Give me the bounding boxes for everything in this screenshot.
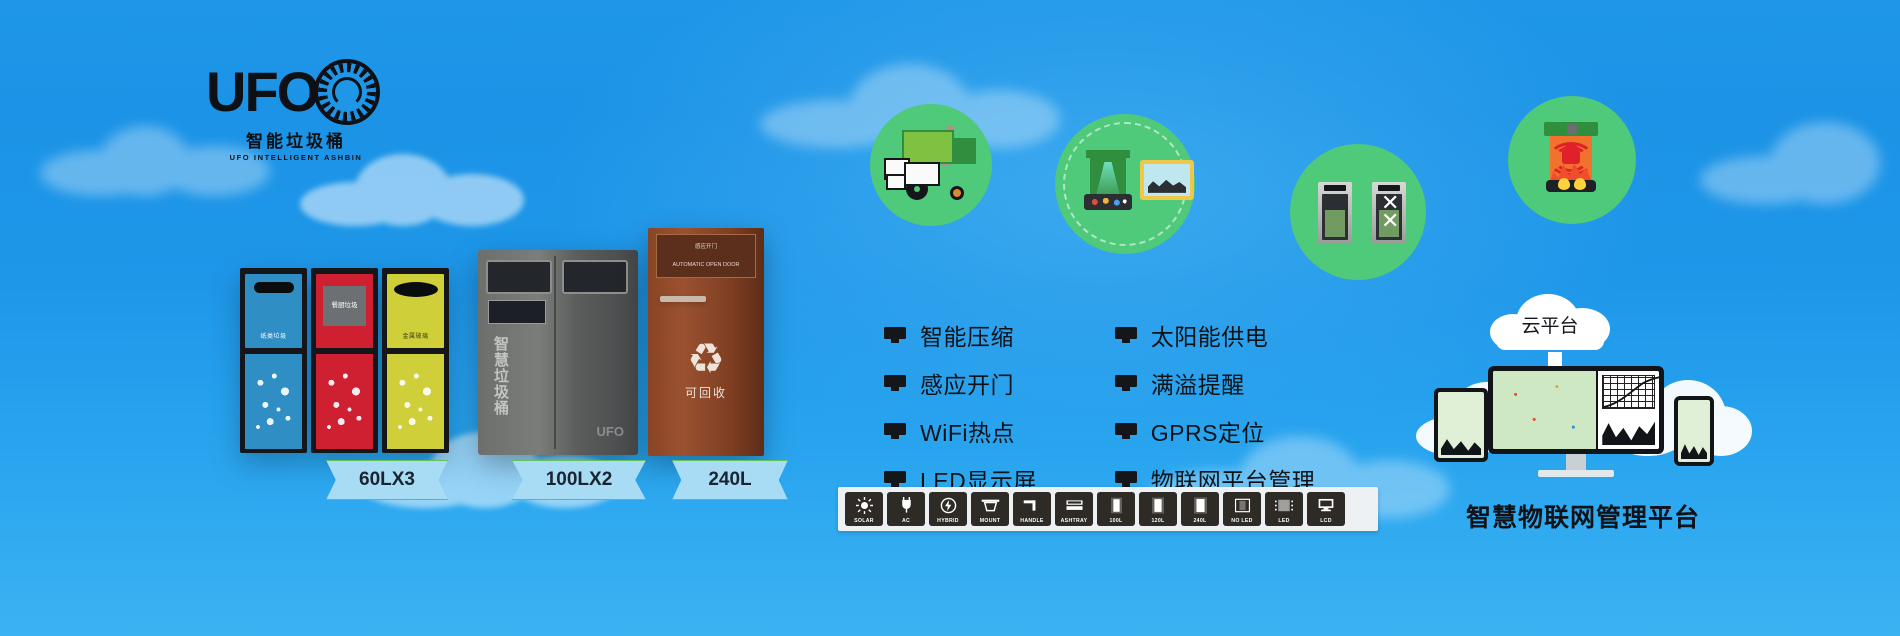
plug-icon <box>887 492 925 518</box>
iot-platform-illustration <box>1430 360 1720 490</box>
bin-door-left <box>486 260 552 294</box>
spec-label: LCD <box>1320 518 1332 525</box>
bin-top-panel: 感应开门 AUTOMATIC OPEN DOOR <box>656 234 756 278</box>
spec-label: 100L <box>1109 518 1122 525</box>
trend-line <box>1602 375 1659 409</box>
sorting-bin-trio: 纸类垃圾 餐厨垃圾 金属玻璃 <box>240 268 455 453</box>
monitor-base <box>1538 470 1614 477</box>
bin-door-right <box>562 260 628 294</box>
compression-bin-before <box>1318 182 1352 244</box>
feature-label: 太阳能供电 <box>1151 318 1269 352</box>
sun-icon <box>845 492 883 518</box>
spec-label: ASHTRAY <box>1061 518 1088 525</box>
spec-item-120l: 120L <box>1139 492 1177 526</box>
monitor-icon <box>884 423 906 439</box>
monitor-icon <box>1115 471 1137 487</box>
desktop-monitor <box>1488 366 1664 454</box>
feature-item: 太阳能供电 <box>1115 318 1316 352</box>
spec-item-mount: MOUNT <box>971 492 1009 526</box>
bin-compartment-paper: 纸类垃圾 <box>240 268 307 453</box>
spec-item-240l: 240L <box>1181 492 1219 526</box>
cloud-platform-badge: 云平台 <box>1490 292 1610 350</box>
bin-120l-icon <box>1139 492 1177 518</box>
bin-sensor-strip <box>660 296 706 302</box>
spec-item-solar: SOLAR <box>845 492 883 526</box>
bin-fill-sensor-icon <box>1080 150 1136 212</box>
feature-column-right: 太阳能供电 满溢提醒 GPRS定位 物联网平台管理 <box>1115 318 1316 496</box>
compression-x-icon: ✕ <box>1381 210 1399 232</box>
feature-label: 满溢提醒 <box>1151 366 1245 400</box>
spec-item-led: LED <box>1265 492 1303 526</box>
spec-label: HANDLE <box>1020 518 1043 525</box>
capacity-label: 60LX3 <box>359 469 415 491</box>
bin-100l-icon <box>1097 492 1135 518</box>
feature-item: WiFi热点 <box>884 414 1037 448</box>
bin-seam <box>554 256 556 449</box>
feature-label: 智能压缩 <box>920 318 1014 352</box>
smart-grey-bin: 智慧垃圾桶 UFO <box>478 250 638 455</box>
spec-item-no-led: NO LED <box>1223 492 1261 526</box>
fire-alarm-bin-icon <box>1540 122 1602 192</box>
tablet-device <box>1434 388 1488 462</box>
spec-label: LED <box>1278 518 1289 525</box>
spec-item-lcd: LCD <box>1307 492 1345 526</box>
spec-item-100l: 100L <box>1097 492 1135 526</box>
spec-label: 240L <box>1193 518 1206 525</box>
bin-top-panel-cn: 感应开门 <box>657 243 755 253</box>
spec-item-ac: AC <box>887 492 925 526</box>
lcd-screen-icon <box>1307 492 1345 518</box>
spec-item-ashtray: ASHTRAY <box>1055 492 1093 526</box>
feature-list: 智能压缩 感应开门 WiFi热点 LED显示屏 太阳能供电 满溢提醒 <box>884 318 1315 496</box>
capacity-ribbon-100lx2: 100LX2 <box>512 460 646 500</box>
bin-compartment-metal-glass: 金属玻璃 <box>382 268 449 453</box>
monitor-icon <box>1115 375 1137 391</box>
logo-mark: UFO <box>206 58 386 126</box>
bin-display-screen <box>488 300 546 324</box>
spec-label: NO LED <box>1231 518 1252 525</box>
cloud-decoration <box>300 150 530 230</box>
bin-240l-icon <box>1181 492 1219 518</box>
feature-label: GPRS定位 <box>1151 414 1265 448</box>
bin-top-panel-en: AUTOMATIC OPEN DOOR <box>657 261 755 271</box>
feature-item: 感应开门 <box>884 366 1037 400</box>
monitor-icon <box>1115 423 1137 439</box>
cloud-decoration <box>1700 120 1900 204</box>
feature-item: GPRS定位 <box>1115 414 1316 448</box>
capacity-label: 240L <box>708 469 751 491</box>
hybrid-power-icon <box>929 492 967 518</box>
monitor-screen <box>1493 371 1659 449</box>
recycle-badge: ♻ 可回收 <box>648 338 764 401</box>
mount-bracket-icon <box>971 492 1009 518</box>
bin-compartment-kitchen: 餐厨垃圾 <box>311 268 378 453</box>
bearing-ring-icon <box>314 59 380 125</box>
recycle-icon: ♻ <box>648 338 764 380</box>
spec-item-hybrid: HYBRID <box>929 492 967 526</box>
smartphone-device <box>1674 396 1714 466</box>
feature-column-left: 智能压缩 感应开门 WiFi热点 LED显示屏 <box>884 318 1037 496</box>
logo-wordmark: UFO <box>206 64 318 120</box>
monitor-icon <box>884 471 906 487</box>
monitor-icon <box>884 327 906 343</box>
no-led-icon <box>1223 492 1261 518</box>
spec-icon-strip: SOLAR AC HYBRID MOUNT HANDLE <box>838 487 1378 531</box>
feature-label: 感应开门 <box>920 366 1014 400</box>
ashtray-icon <box>1055 492 1093 518</box>
area-chart <box>1602 414 1655 445</box>
logo-english-text: UFO INTELLIGENT ASHBIN <box>206 153 386 162</box>
bin-brand-mark: UFO <box>597 424 624 439</box>
platform-title: 智慧物联网管理平台 <box>1438 498 1728 534</box>
led-panel-icon <box>1265 492 1303 518</box>
spec-label: AC <box>902 518 910 525</box>
capacity-ribbon-240l: 240L <box>672 460 788 500</box>
fill-level-indicator-icon <box>1140 160 1194 200</box>
cloud-platform-label: 云平台 <box>1490 292 1610 350</box>
brand-logo: UFO 智能垃圾桶 UFO INTELLIGENT ASHBIN <box>206 58 386 160</box>
logo-chinese-text: 智能垃圾桶 <box>206 127 386 152</box>
spec-label: HYBRID <box>937 518 959 525</box>
recycle-brown-bin: 感应开门 AUTOMATIC OPEN DOOR ♻ 可回收 <box>648 228 764 456</box>
garbage-truck-icon <box>884 124 980 200</box>
spec-label: MOUNT <box>980 518 1001 525</box>
feature-item: 智能压缩 <box>884 318 1037 352</box>
spec-label: SOLAR <box>854 518 874 525</box>
chart-view <box>1596 371 1659 449</box>
spec-label: 120L <box>1151 518 1164 525</box>
bin-label-kitchen: 餐厨垃圾 <box>323 286 366 326</box>
capacity-label: 100LX2 <box>546 469 613 491</box>
bin-label-metal-glass: 金属玻璃 <box>387 331 444 340</box>
product-banner: UFO 智能垃圾桶 UFO INTELLIGENT ASHBIN 纸类垃圾 餐厨… <box>0 0 1900 636</box>
map-view <box>1493 371 1596 449</box>
bin-vertical-label: 智慧垃圾桶 <box>490 336 510 416</box>
handle-icon <box>1013 492 1051 518</box>
monitor-stand <box>1566 454 1586 470</box>
monitor-icon <box>884 375 906 391</box>
bin-label-paper: 纸类垃圾 <box>245 331 302 340</box>
recycle-label: 可回收 <box>648 384 764 401</box>
capacity-ribbon-60lx3: 60LX3 <box>326 460 448 500</box>
feature-label: WiFi热点 <box>920 414 1015 448</box>
feature-item: 满溢提醒 <box>1115 366 1316 400</box>
monitor-icon <box>1115 327 1137 343</box>
spec-item-handle: HANDLE <box>1013 492 1051 526</box>
